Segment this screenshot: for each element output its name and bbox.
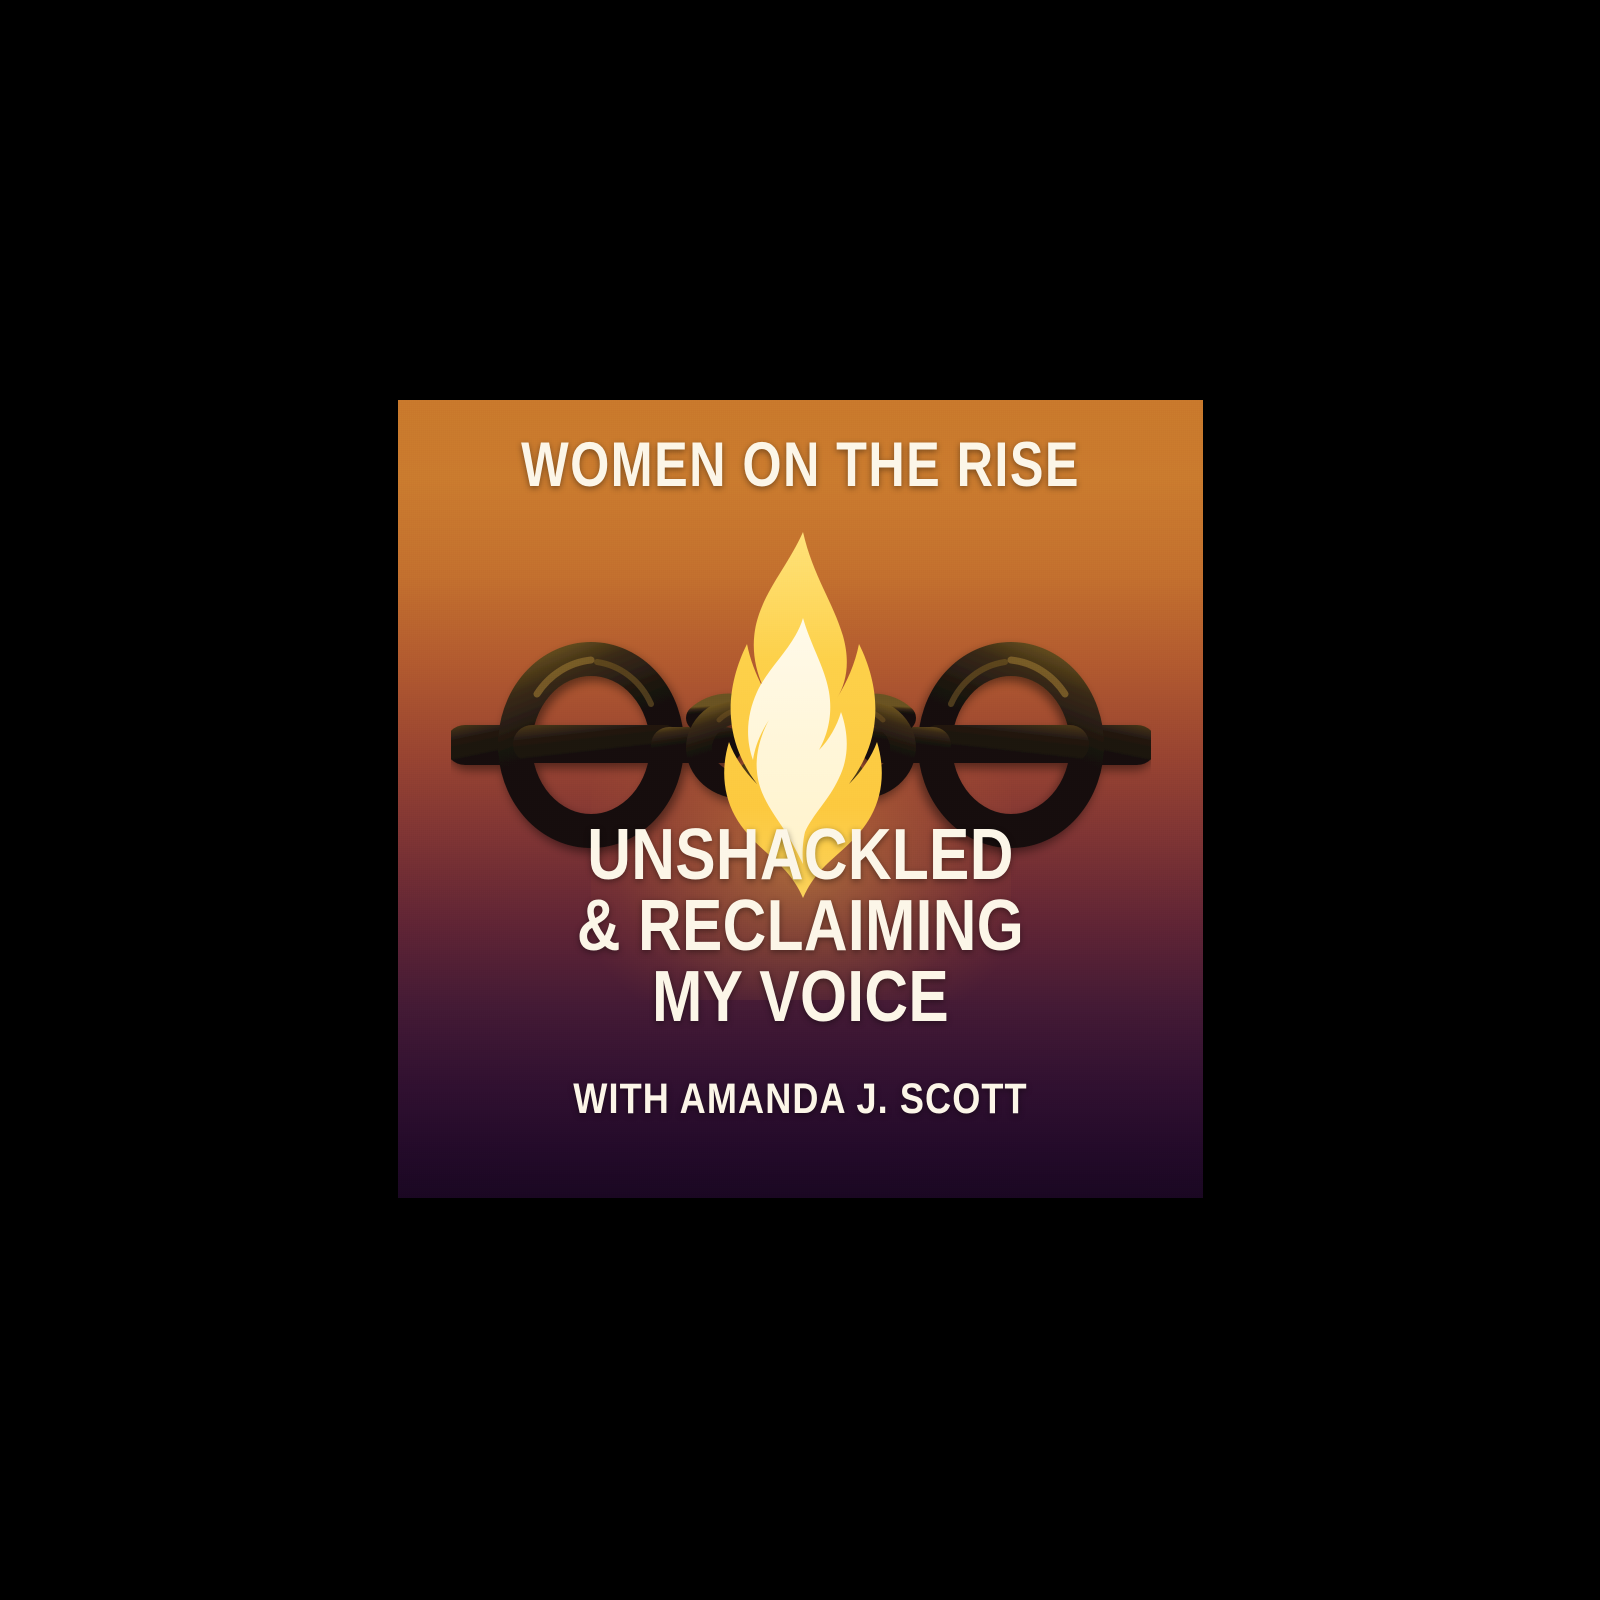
host-byline: WITH AMANDA J. SCOTT [462, 1078, 1138, 1121]
episode-title-line-1: UNSHACKLED [462, 820, 1138, 891]
podcast-cover-art: WOMEN ON THE RISE [398, 400, 1203, 1198]
episode-title-line-2: & RECLAIMING [462, 891, 1138, 962]
episode-title-line-3: MY VOICE [462, 962, 1138, 1033]
episode-title: UNSHACKLED & RECLAIMING MY VOICE [462, 820, 1138, 1033]
show-title: WOMEN ON THE RISE [479, 434, 1123, 497]
page-background: WOMEN ON THE RISE [0, 0, 1600, 1600]
